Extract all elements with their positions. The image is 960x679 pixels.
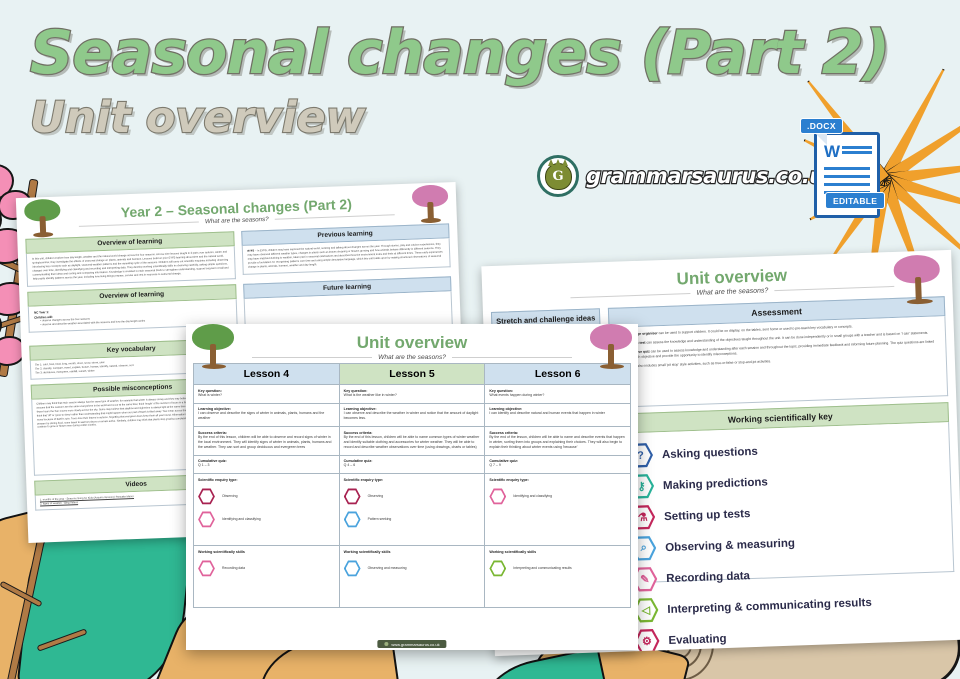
ws-skill-label: Observing and measuring <box>368 566 407 570</box>
enquiry-type: Identifying and classifying <box>489 488 626 505</box>
key-question-value: What is the weather like in winter? <box>344 393 481 398</box>
docx-editable-badge: W EDITABLE .DOCX <box>800 118 896 222</box>
row-success-criteria: Success criteria:By the end of this less… <box>194 427 631 456</box>
classifying-hex-icon <box>489 488 506 505</box>
ws-key-label: Recording data <box>666 570 750 585</box>
ws-key-label: Setting up tests <box>664 508 751 523</box>
observing-hex-icon <box>198 488 215 505</box>
enquiry-type-label: Observing <box>222 494 237 498</box>
footer-url: www.grammarsaurus.co.uk <box>391 642 439 647</box>
ws-skill: Observing and measuring <box>344 560 481 577</box>
enquiry-type: Identifying and classifying <box>198 511 335 528</box>
pattern-hex-icon <box>344 511 361 528</box>
footer-dot-icon <box>384 642 388 646</box>
key-question-value: What is winter? <box>198 393 335 398</box>
row-learning-objective: Learning objective:I can observe and des… <box>194 403 631 427</box>
ws-skills-label: Working scientifically skills <box>198 550 335 554</box>
row-enquiry-types: Scientific enquiry type:ObservingIdentif… <box>194 474 631 546</box>
enquiry-type: Observing <box>344 488 481 505</box>
learning-objective-cell-1: Learning objective:I can observe and des… <box>194 403 340 427</box>
enquiry-types-cell-1: Scientific enquiry type:ObservingIdentif… <box>194 474 340 546</box>
enquiry-type-label: Observing <box>368 494 383 498</box>
footer-brand-badge: www.grammarsaurus.co.uk <box>377 640 446 648</box>
success-criteria-value: By the end of this lesson, children will… <box>344 435 481 450</box>
cumulative-quiz-value: Q 4 – 6 <box>344 463 481 468</box>
ws-key-label: Making predictions <box>663 476 768 492</box>
enquiry-type: Pattern seeking <box>344 511 481 528</box>
lesson-header-row: Lesson 4Lesson 5Lesson 6 <box>194 364 631 385</box>
cumulative-quiz-cell-2: Cumulative quiz:Q 4 – 6 <box>339 455 485 474</box>
document-page-icon: W EDITABLE <box>814 132 880 218</box>
lesson-header-2[interactable]: Lesson 5 <box>339 364 485 385</box>
page-subtitle: Unit overview <box>30 93 889 143</box>
row-cumulative-quiz: Cumulative quiz:Q 1 – 3Cumulative quiz:Q… <box>194 455 631 474</box>
learning-objective-cell-3: Learning objective:I can identify and de… <box>485 403 631 427</box>
sheet-unit-overview-lessons[interactable]: Unit overview What are the seasons? Less… <box>186 324 638 650</box>
ws-key-list: ?Asking questions⚷Making predictions⚗Set… <box>612 422 954 584</box>
key-question-cell-3: Key question:What events happen during w… <box>485 385 631 404</box>
enquiry-type-label: Pattern seeking <box>368 517 392 521</box>
learning-objective-value: I can observe and describe the signs of … <box>198 411 335 421</box>
sheet-center-title: Unit overview <box>193 333 631 353</box>
magnifier-hex-icon <box>344 560 361 577</box>
success-criteria-cell-3: Success criteria:By the end of the lesso… <box>485 427 631 456</box>
clipboard-hex-icon <box>198 560 215 577</box>
lesson-overview-table: Lesson 4Lesson 5Lesson 6Key question:Wha… <box>193 363 631 608</box>
learning-objective-value: I can identify and describe natural and … <box>489 411 626 416</box>
megaphone-hex-icon <box>489 560 506 577</box>
cumulative-quiz-cell-3: Cumulative quiz:Q 7 – 9 <box>485 455 631 474</box>
ws-skills-cell-1: Working scientifically skillsRecording d… <box>194 546 340 608</box>
observing-hex-icon <box>344 488 361 505</box>
success-criteria-cell-2: Success criteria:By the end of this less… <box>339 427 485 456</box>
enquiry-types-cell-3: Scientific enquiry type:Identifying and … <box>485 474 631 546</box>
ws-key-label: Interpreting & communicating results <box>667 596 872 615</box>
cumulative-quiz-value: Q 1 – 3 <box>198 463 335 468</box>
brand-logo: G grammarsaurus.co.uk <box>537 155 837 197</box>
enquiry-types-label: Scientific enquiry type: <box>198 478 335 482</box>
ws-key-label: Observing & measuring <box>665 537 795 554</box>
overview-of-learning-body: In this unit, children explore how day l… <box>32 250 229 281</box>
page-title-block: Seasonal changes (Part 2) Unit overview <box>30 22 889 143</box>
ws-skill-label: Interpreting and communicating results <box>513 566 571 570</box>
sheet-left-subtitle: What are the seasons? <box>205 216 269 225</box>
ws-skills-cell-3: Working scientifically skillsInterpretin… <box>485 546 631 608</box>
docx-format-label: .DOCX <box>800 118 843 134</box>
sheet-center-subtitle-row: What are the seasons? <box>193 354 631 361</box>
classifying-hex-icon <box>198 511 215 528</box>
success-criteria-cell-1: Success criteria:By the end of this less… <box>194 427 340 456</box>
enquiry-type: Observing <box>198 488 335 505</box>
key-question-cell-1: Key question:What is winter? <box>194 385 340 404</box>
editable-label: EDITABLE <box>825 192 885 209</box>
enquiry-types-label: Scientific enquiry type: <box>344 478 481 482</box>
ws-skills-label: Working scientifically skills <box>489 550 626 554</box>
learning-objective-cell-2: Learning objective:I can observe and des… <box>339 403 485 427</box>
enquiry-types-cell-2: Scientific enquiry type:ObservingPattern… <box>339 474 485 546</box>
ws-skill: Interpreting and communicating results <box>489 560 626 577</box>
dinosaur-logo-icon: G <box>537 155 579 197</box>
key-question-value: What events happen during winter? <box>489 393 626 398</box>
sheet-center-subtitle: What are the seasons? <box>378 354 446 361</box>
sheet-center-header: Unit overview What are the seasons? <box>193 330 631 363</box>
previous-learning-body: – In EYFS, children may have explored th… <box>248 243 443 269</box>
logo-spikes-icon <box>548 159 568 166</box>
cumulative-quiz-value: Q 7 – 9 <box>489 463 626 468</box>
enquiry-types-label: Scientific enquiry type: <box>489 478 626 482</box>
success-criteria-value: By the end of the lesson, children will … <box>489 435 626 450</box>
key-question-cell-2: Key question:What is the weather like in… <box>339 385 485 404</box>
row-ws-skills: Working scientifically skillsRecording d… <box>194 546 631 608</box>
ws-skills-cell-2: Working scientifically skillsObserving a… <box>339 546 485 608</box>
enquiry-type-label: Identifying and classifying <box>513 494 552 498</box>
ws-skill: Recording data <box>198 560 335 577</box>
cumulative-quiz-cell-1: Cumulative quiz:Q 1 – 3 <box>194 455 340 474</box>
sheet-right-subtitle: What are the seasons? <box>696 287 768 297</box>
row-key-question: Key question:What is winter?Key question… <box>194 385 631 404</box>
ws-skill-label: Recording data <box>222 566 245 570</box>
logo-monogram: G <box>545 163 572 190</box>
page-title: Seasonal changes (Part 2) <box>30 22 889 85</box>
enquiry-type-label: Identifying and classifying <box>222 517 261 521</box>
ws-key-label: Evaluating <box>668 632 727 646</box>
learning-objective-value: I can observe and describe the weather i… <box>344 411 481 421</box>
word-mark: W <box>824 142 840 162</box>
ws-key-label: Asking questions <box>662 445 758 460</box>
success-criteria-value: By the end of this lesson, children will… <box>198 435 335 450</box>
ws-skills-label: Working scientifically skills <box>344 550 481 554</box>
